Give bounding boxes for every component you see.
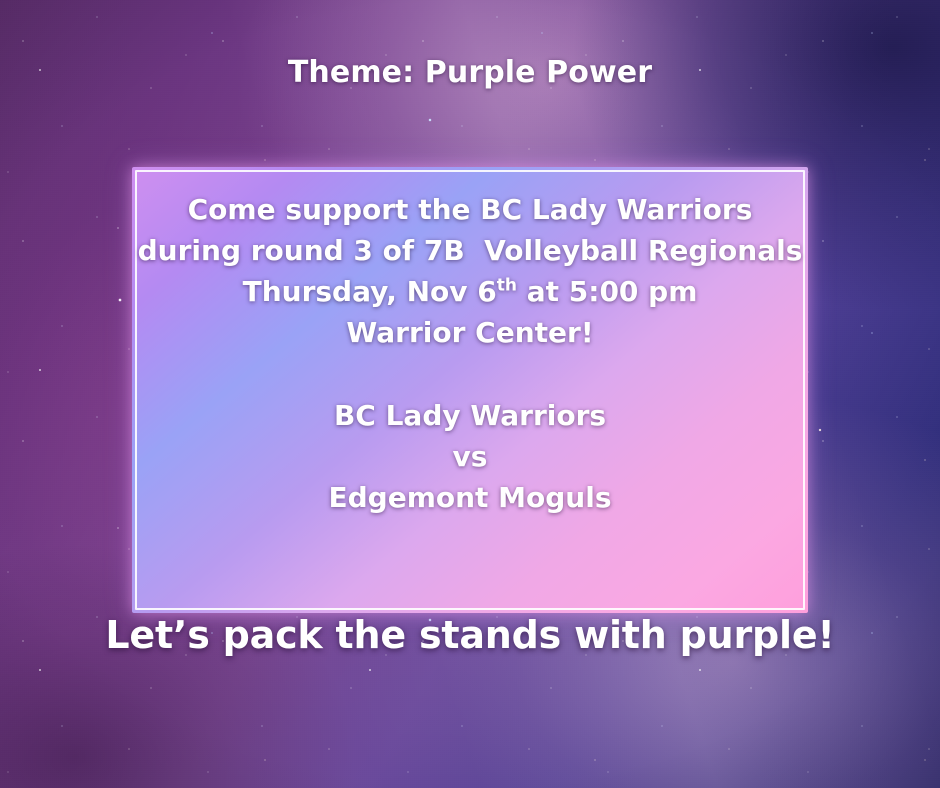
event-venue-line: Warrior Center! bbox=[346, 312, 593, 353]
away-team-name: Edgemont Moguls bbox=[328, 477, 611, 518]
event-date-line: Thursday, Nov 6th at 5:00 pm bbox=[243, 271, 698, 312]
event-date-suffix: at 5:00 pm bbox=[517, 275, 697, 308]
matchup-separator: vs bbox=[453, 436, 488, 477]
home-team-name: BC Lady Warriors bbox=[334, 395, 606, 436]
call-to-action-text: Let’s pack the stands with purple! bbox=[0, 613, 940, 657]
event-poster: Theme: Purple Power Come support the BC … bbox=[0, 0, 940, 788]
event-line-1: Come support the BC Lady Warriors bbox=[188, 189, 753, 230]
event-date-prefix: Thursday, Nov 6 bbox=[243, 275, 497, 308]
event-details-block: Come support the BC Lady Warriors during… bbox=[132, 167, 808, 613]
event-line-2: during round 3 of 7B Volleyball Regional… bbox=[138, 230, 803, 271]
page-title: Theme: Purple Power bbox=[0, 55, 940, 90]
event-date-ordinal: th bbox=[497, 276, 517, 296]
